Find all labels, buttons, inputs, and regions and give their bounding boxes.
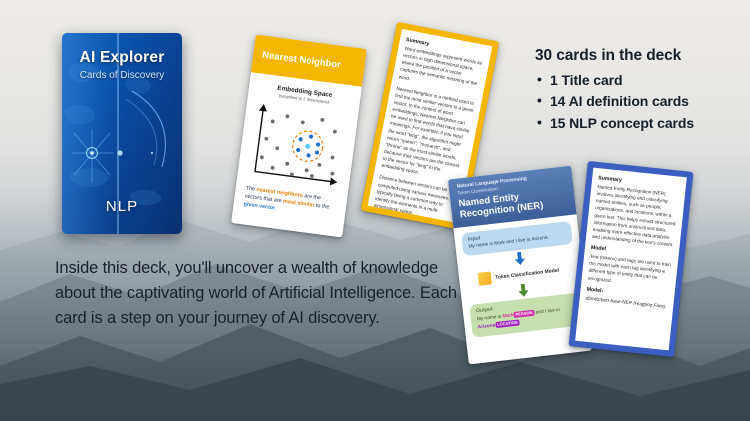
output-entity-location: Arizona [478, 324, 496, 331]
title-card-text: AI Explorer Cards of Discovery [62, 49, 182, 81]
summary-paragraph: Named Entity Recognition (NER) involves … [592, 183, 680, 248]
entity-tag-person: PERSON [513, 310, 534, 318]
ner-summary-card[interactable]: Summary Named Entity Recognition (NER) i… [569, 161, 694, 357]
caption-highlight-similar: most similar [283, 199, 315, 209]
slide-canvas: AI Explorer Cards of Discovery NLP Neare… [0, 0, 750, 421]
entity-tag-location: LOCATION [495, 320, 520, 329]
list-item: 14 AI definition cards [535, 91, 745, 112]
output-entity-person: Mark [502, 314, 514, 320]
list-item: 1 Title card [535, 70, 745, 91]
title-card-tag: NLP [62, 198, 182, 215]
caption-part: to the [314, 203, 330, 211]
model-paragraph: Text (tokens) and tags are used to train… [587, 253, 672, 290]
caption-highlight-vector: given vector [243, 202, 275, 212]
model-cube-icon [478, 272, 492, 286]
title-card-title: AI Explorer [62, 49, 182, 67]
deck-stats: 30 cards in the deck 1 Title card 14 AI … [535, 47, 745, 134]
nearest-neighbor-card-body: Embedding Space (simplified to 2 dimensi… [233, 72, 362, 222]
embedding-space-plot [245, 99, 351, 193]
title-card-subtitle: Cards of Discovery [62, 70, 182, 81]
nearest-neighbor-card-title: Nearest Neighbor [262, 49, 342, 70]
deck-stats-heading: 30 cards in the deck [535, 47, 745, 65]
summary-paragraph: Nearest Neighbor is a method used to fin… [381, 85, 476, 184]
deck-stats-list: 1 Title card 14 AI definition cards 15 N… [535, 70, 745, 134]
deck-description-blurb: Inside this deck, you'll uncover a wealt… [55, 256, 475, 331]
title-card[interactable]: AI Explorer Cards of Discovery NLP [62, 33, 182, 234]
list-item: 15 NLP concept cards [535, 113, 745, 134]
nearest-neighbor-card[interactable]: Nearest Neighbor Embedding Space (simpli… [231, 35, 367, 238]
output-middle: and I live in [534, 308, 560, 316]
caption-part: . [275, 206, 277, 212]
